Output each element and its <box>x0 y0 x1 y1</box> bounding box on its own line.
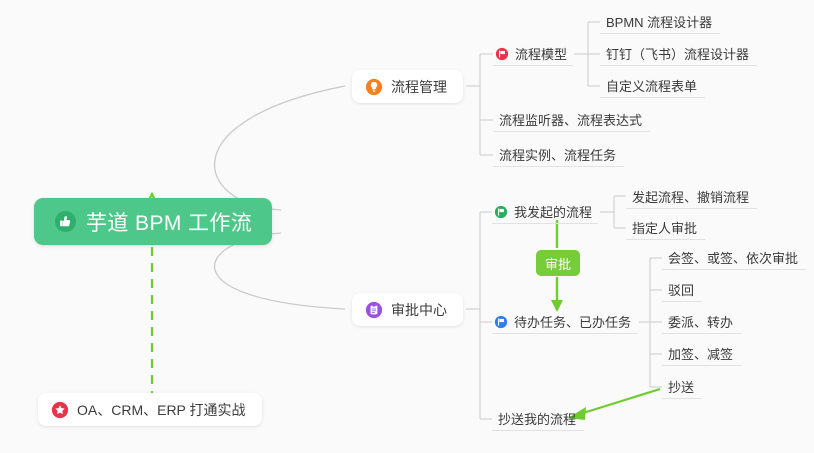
approval-flow-badge: 审批 <box>536 250 580 276</box>
root-label: 芋道 BPM 工作流 <box>86 207 252 237</box>
leaf-label: 发起流程、撤销流程 <box>632 187 749 206</box>
leaf-label: 抄送 <box>668 377 694 396</box>
leaf-add-remove-sign[interactable]: 加签、减签 <box>662 342 741 366</box>
clipboard-icon <box>365 301 383 319</box>
leaf-start-cancel-process[interactable]: 发起流程、撤销流程 <box>626 185 757 209</box>
footnote-node[interactable]: OA、CRM、ERP 打通实战 <box>38 393 262 426</box>
footnote-label: OA、CRM、ERP 打通实战 <box>77 400 246 420</box>
leaf-bpmn-designer[interactable]: BPMN 流程设计器 <box>600 10 720 34</box>
leaf-label: 驳回 <box>668 280 694 299</box>
mindmap-canvas: 芋道 BPM 工作流 流程管理 流程模型 BPMN 流程设计器 钉钉（飞书）流程 <box>0 0 814 453</box>
node-label: 我发起的流程 <box>514 202 592 221</box>
leaf-custom-form[interactable]: 自定义流程表单 <box>600 74 705 98</box>
node-process-model[interactable]: 流程模型 <box>493 42 573 66</box>
node-todo-done-tasks[interactable]: 待办任务、已办任务 <box>492 310 637 334</box>
leaf-label: 指定人审批 <box>632 218 697 237</box>
leaf-label: 委派、转办 <box>668 312 733 331</box>
leaf-label: 钉钉（飞书）流程设计器 <box>606 44 749 63</box>
node-my-started-process[interactable]: 我发起的流程 <box>492 200 598 224</box>
leaf-instance-task[interactable]: 流程实例、流程任务 <box>493 143 624 167</box>
flow-arrow-cc-line <box>580 389 660 414</box>
branch-label: 审批中心 <box>391 300 447 320</box>
leaf-cc-to-me-process[interactable]: 抄送我的流程 <box>492 407 584 431</box>
leaf-assignee-approval[interactable]: 指定人审批 <box>626 216 705 240</box>
leaf-label: 会签、或签、依次审批 <box>668 248 798 267</box>
branch-process-management[interactable]: 流程管理 <box>352 70 463 103</box>
leaf-listener-expression[interactable]: 流程监听器、流程表达式 <box>493 108 650 132</box>
leaf-label: 流程实例、流程任务 <box>499 145 616 164</box>
leaf-countersign-approval[interactable]: 会签、或签、依次审批 <box>662 246 806 270</box>
connector-root-to-process-management <box>215 86 345 210</box>
flag-icon <box>494 315 508 329</box>
leaf-label: BPMN 流程设计器 <box>606 12 712 31</box>
lightbulb-icon <box>365 78 383 96</box>
flag-icon <box>495 47 509 61</box>
leaf-dingtalk-designer[interactable]: 钉钉（飞书）流程设计器 <box>600 42 757 66</box>
branch-approval-center[interactable]: 审批中心 <box>352 293 463 326</box>
leaf-label: 抄送我的流程 <box>498 409 576 428</box>
badge-label: 审批 <box>545 254 571 273</box>
leaf-delegate-transfer[interactable]: 委派、转办 <box>662 310 741 334</box>
star-icon <box>51 401 69 419</box>
thumbs-up-icon <box>54 210 77 233</box>
leaf-label: 加签、减签 <box>668 344 733 363</box>
leaf-cc[interactable]: 抄送 <box>662 375 702 399</box>
leaf-label: 流程监听器、流程表达式 <box>499 110 642 129</box>
leaf-reject[interactable]: 驳回 <box>662 278 702 302</box>
branch-label: 流程管理 <box>391 77 447 97</box>
root-node[interactable]: 芋道 BPM 工作流 <box>34 198 272 245</box>
flag-icon <box>494 205 508 219</box>
node-label: 流程模型 <box>515 44 567 63</box>
node-label: 待办任务、已办任务 <box>514 312 631 331</box>
leaf-label: 自定义流程表单 <box>606 76 697 95</box>
